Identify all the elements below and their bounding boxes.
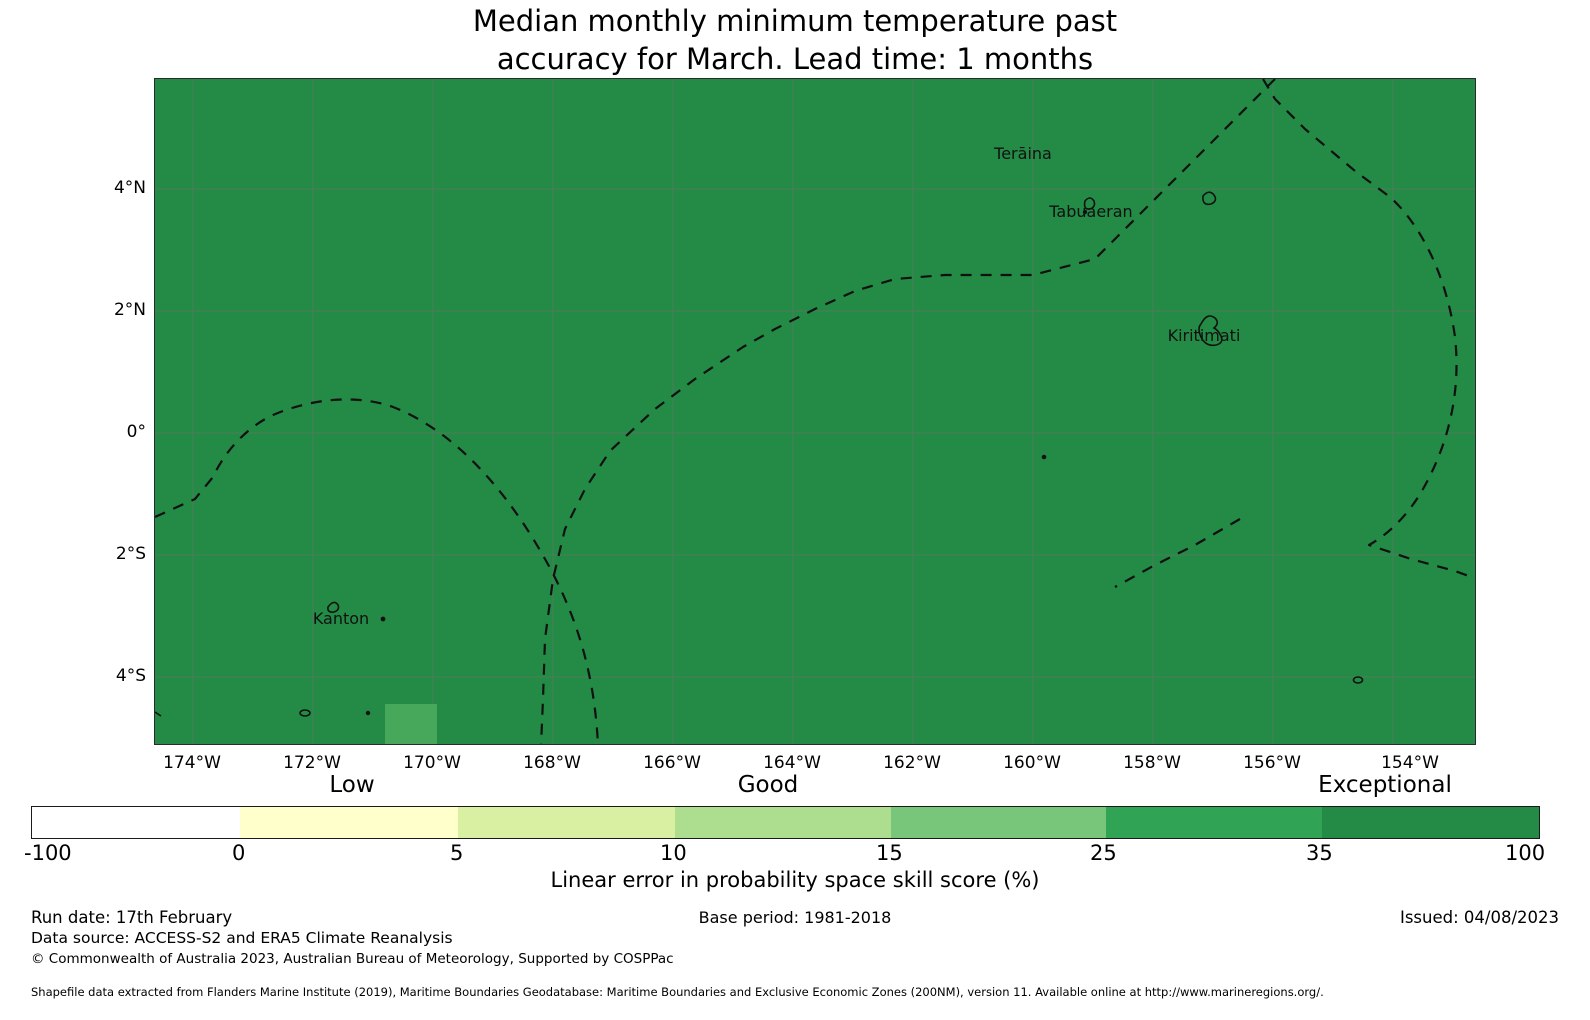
colorbar-tick-10: 10 [660, 841, 687, 865]
colorbar-tick-5: 5 [450, 841, 463, 865]
data-cell-lighter [385, 704, 437, 745]
colorbar-tick-25: 25 [1090, 841, 1117, 865]
chart-title-line2: accuracy for March. Lead time: 1 months [0, 40, 1590, 78]
map-label-kanton: Kanton [313, 609, 369, 628]
eez-boundary [155, 79, 1476, 745]
footer-issued-date: Issued: 04/08/2023 [1400, 908, 1559, 927]
x-tick-168w: 168°W [523, 753, 581, 773]
colorbar-band-exceptional: Exceptional [1318, 772, 1452, 798]
colorbar-tick-15: 15 [876, 841, 903, 865]
colorbar-tick-0: 0 [232, 841, 245, 865]
x-tick-156w: 156°W [1243, 753, 1301, 773]
map-gridlines [155, 79, 1476, 745]
map-canvas: Terāina Tabuaeran Kiritimati Kanton [155, 79, 1476, 745]
colorbar-segment-neg100-0 [32, 807, 240, 838]
colorbar-segment-10-15 [675, 807, 891, 838]
map-plot-area: Terāina Tabuaeran Kiritimati Kanton [154, 78, 1476, 745]
colorbar-tick-35: 35 [1306, 841, 1333, 865]
colorbar-tick-neg100: -100 [24, 841, 72, 865]
colorbar-band-low: Low [329, 772, 374, 798]
colorbar-segment-25-35 [1106, 807, 1322, 838]
footer-copyright: © Commonwealth of Australia 2023, Austra… [31, 949, 674, 970]
map-label-kiritimati: Kiritimati [1168, 326, 1241, 345]
y-tick-4s: 4°S [60, 666, 146, 686]
x-tick-154w: 154°W [1381, 753, 1439, 773]
colorbar-segment-5-10 [458, 807, 675, 838]
y-tick-0: 0° [60, 422, 146, 442]
colorbar-axis-label: Linear error in probability space skill … [0, 868, 1590, 892]
chart-title-line1: Median monthly minimum temperature past [0, 2, 1590, 40]
colorbar-tick-100: 100 [1505, 841, 1545, 865]
map-label-tabuaeran: Tabuaeran [1048, 202, 1132, 221]
map-label-teraina: Terāina [993, 144, 1052, 163]
island-outlines [155, 192, 1363, 716]
footer-data-source: Data source: ACCESS-S2 and ERA5 Climate … [31, 928, 674, 949]
x-tick-170w: 170°W [403, 753, 461, 773]
x-tick-172w: 172°W [283, 753, 341, 773]
y-tick-2n: 2°N [60, 300, 146, 320]
x-tick-166w: 166°W [643, 753, 701, 773]
x-tick-160w: 160°W [1003, 753, 1061, 773]
x-tick-162w: 162°W [883, 753, 941, 773]
colorbar-segment-0-5 [240, 807, 458, 838]
x-tick-158w: 158°W [1123, 753, 1181, 773]
colorbar-segment-15-25 [891, 807, 1106, 838]
footer-shapefile-attribution: Shapefile data extracted from Flanders M… [31, 985, 1324, 999]
colorbar [31, 806, 1540, 839]
colorbar-segment-35-100 [1322, 807, 1539, 838]
footer-base-period: Base period: 1981-2018 [0, 908, 1590, 927]
colorbar-band-good: Good [738, 772, 799, 798]
chart-title: Median monthly minimum temperature past … [0, 2, 1590, 78]
y-tick-4n: 4°N [60, 178, 146, 198]
x-tick-164w: 164°W [763, 753, 821, 773]
y-tick-2s: 2°S [60, 544, 146, 564]
x-tick-174w: 174°W [163, 753, 221, 773]
